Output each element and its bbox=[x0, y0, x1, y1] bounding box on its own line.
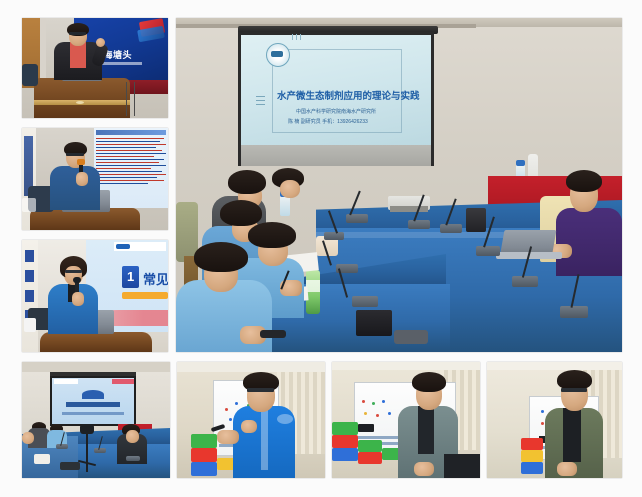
slide-title-3: 常见 bbox=[143, 269, 168, 288]
photo-mic-speaker-text-slide bbox=[22, 128, 168, 230]
slide-number-3: 1 bbox=[127, 269, 135, 284]
slide-subtitle-person: 陈 楠 副研究员 手机：13926426233 bbox=[288, 118, 368, 125]
photo-room-wide bbox=[22, 362, 170, 478]
photo-olive-jacket-speaker bbox=[487, 362, 622, 478]
photo-woman-speaker: 1 常见 bbox=[22, 240, 168, 352]
photo-podium-speaker: 粤海塘头 bbox=[22, 18, 168, 118]
slide-title-main: 水产微生态制剂应用的理论与实践 bbox=[277, 88, 420, 102]
slide-subtitle-org: 中国水产科学研究院南海水产研究所 bbox=[296, 108, 376, 115]
photo-teal-jacket-speaker bbox=[332, 362, 480, 478]
photo-main-conference: 水产微生态制剂应用的理论与实践 中国水产科学研究院南海水产研究所 陈 楠 副研究… bbox=[176, 18, 622, 352]
photo-blue-tracksuit-trainer bbox=[177, 362, 325, 478]
photo-collage: 粤海塘头 bbox=[0, 0, 642, 497]
